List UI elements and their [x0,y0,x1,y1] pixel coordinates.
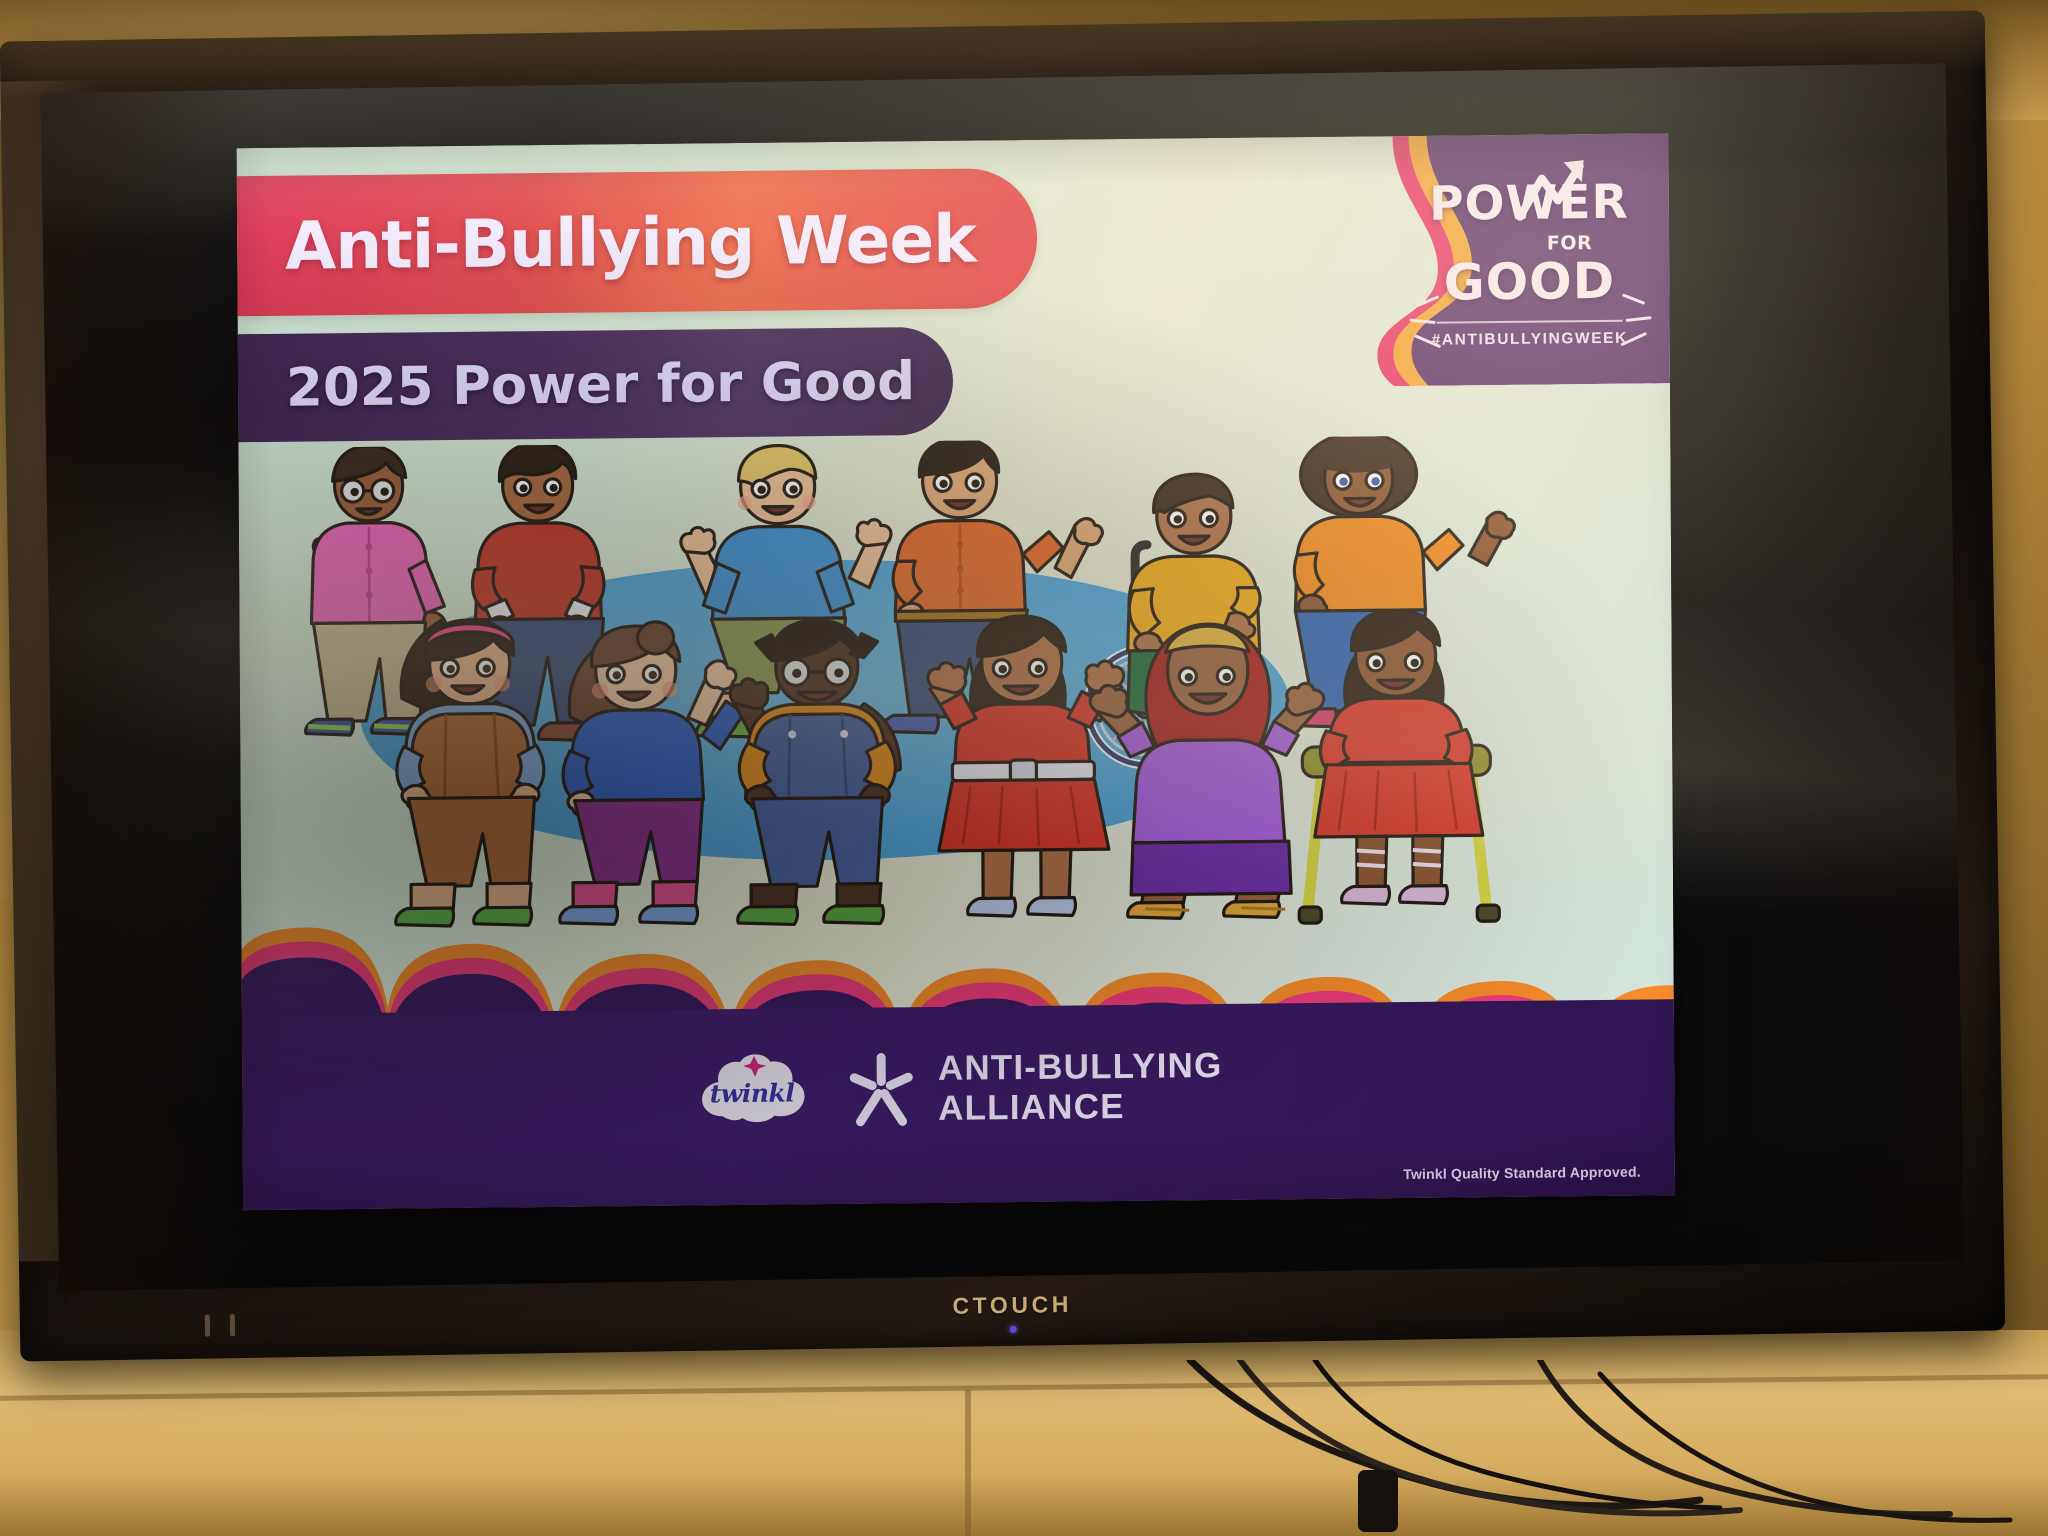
cable-bundle [1180,1360,2020,1536]
ctouch-display[interactable]: CTOUCH .ol{stroke:#241a14;stroke-width:3… [0,10,2005,1361]
logo-power-row: POWER FOR [1411,171,1647,239]
slide-title-banner: Anti-Bullying Week [237,168,1038,316]
twinkl-logo[interactable]: twinkl [694,1053,810,1128]
logo-hashtag: #ANTIBULLYINGWEEK [1412,329,1648,349]
wall-vertical-seam [965,1390,971,1536]
scalloped-footer: twinkl [241,865,1675,1210]
power-for-good-logo: POWER FOR GOOD #ANTIBULLYINGWEEK [1411,171,1648,349]
bezel-buttons[interactable] [205,1314,235,1336]
logo-divider [1437,320,1623,324]
ctouch-brand-label: CTOUCH [952,1291,1072,1320]
page-title: Anti-Bullying Week [285,200,976,284]
sparkle-ray [1410,319,1436,324]
quality-standard-note: Twinkl Quality Standard Approved. [1403,1164,1641,1182]
page-subtitle: 2025 Power for Good [286,351,915,419]
presentation-slide[interactable]: .ol{stroke:#241a14;stroke-width:3.2;stro… [237,133,1675,1210]
upward-arrow-icon [1514,158,1598,221]
anti-bullying-alliance-logo[interactable]: ANTI-BULLYING ALLIANCE [844,1046,1223,1130]
twinkl-wordmark: twinkl [694,1053,810,1128]
aba-line-2: ALLIANCE [938,1086,1223,1129]
slide-subtitle-banner: 2025 Power for Good [238,327,954,442]
footer-logos: twinkl [242,1041,1674,1136]
power-for-good-logo-blob: POWER FOR GOOD #ANTIBULLYINGWEEK [1369,133,1671,386]
logo-good-text: GOOD [1411,251,1647,311]
display-screen[interactable]: .ol{stroke:#241a14;stroke-width:3.2;stro… [41,63,1965,1291]
logo-for-text: FOR [1547,232,1592,254]
power-led-indicator [1009,1326,1016,1333]
aba-star-icon [844,1051,918,1128]
aba-wordmark: ANTI-BULLYING ALLIANCE [938,1046,1223,1129]
aba-line-1: ANTI-BULLYING [938,1046,1223,1089]
